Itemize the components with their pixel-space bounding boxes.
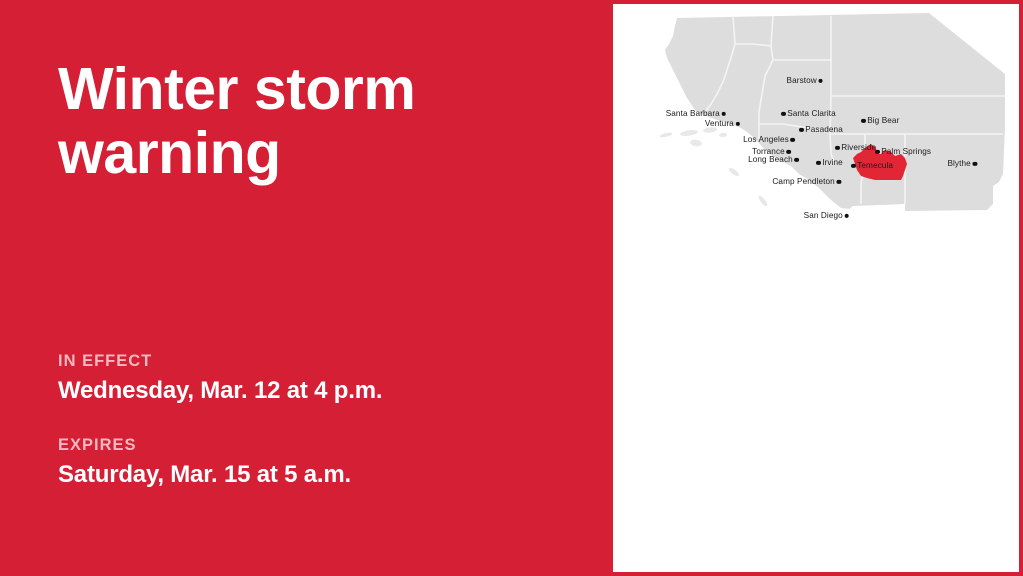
city-label: Irvine xyxy=(822,159,843,167)
city-label: Santa Barbara xyxy=(666,110,720,118)
map-city-marker: Big Bear xyxy=(861,117,899,125)
region-map: BarstowSanta BarbaraSanta ClaritaVentura… xyxy=(613,4,1019,572)
city-label: Big Bear xyxy=(867,117,899,125)
city-dot-icon xyxy=(836,180,841,185)
map-city-marker: Los Angeles xyxy=(743,136,795,144)
weather-alert-card: Winter storm warning IN EFFECT Wednesday… xyxy=(0,0,1023,576)
expires-label: EXPIRES xyxy=(58,436,573,456)
city-dot-icon xyxy=(861,119,866,124)
map-city-marker: Santa Clarita xyxy=(781,110,836,118)
city-dot-icon xyxy=(790,138,795,143)
city-label: Temecula xyxy=(857,162,893,170)
expires-value: Saturday, Mar. 15 at 5 a.m. xyxy=(58,460,573,490)
city-dot-icon xyxy=(875,150,880,155)
map-city-marker: Pasadena xyxy=(799,126,843,134)
expires-block: EXPIRES Saturday, Mar. 15 at 5 a.m. xyxy=(58,436,573,490)
city-label-layer: BarstowSanta BarbaraSanta ClaritaVentura… xyxy=(613,4,1019,572)
map-city-marker: Riverside xyxy=(835,144,876,152)
map-city-marker: Santa Barbara xyxy=(666,110,726,118)
alert-text-panel: Winter storm warning IN EFFECT Wednesday… xyxy=(0,0,613,576)
city-dot-icon xyxy=(799,128,804,133)
city-dot-icon xyxy=(835,146,840,151)
city-label: Ventura xyxy=(705,120,734,128)
city-dot-icon xyxy=(794,158,799,163)
in-effect-label: IN EFFECT xyxy=(58,352,573,372)
alert-timing-group: IN EFFECT Wednesday, Mar. 12 at 4 p.m. E… xyxy=(58,352,573,536)
city-label: Pasadena xyxy=(805,126,843,134)
city-label: Blythe xyxy=(947,160,970,168)
city-label: San Diego xyxy=(804,212,843,220)
city-dot-icon xyxy=(721,112,726,117)
map-city-marker: Camp Pendleton xyxy=(772,178,841,186)
map-city-marker: Palm Springs xyxy=(875,148,931,156)
in-effect-value: Wednesday, Mar. 12 at 4 p.m. xyxy=(58,376,573,406)
city-dot-icon xyxy=(816,161,821,166)
map-city-marker: Irvine xyxy=(816,159,843,167)
city-label: Barstow xyxy=(787,77,817,85)
city-label: Palm Springs xyxy=(881,148,931,156)
in-effect-block: IN EFFECT Wednesday, Mar. 12 at 4 p.m. xyxy=(58,352,573,406)
city-dot-icon xyxy=(818,79,823,84)
map-city-marker: Long Beach xyxy=(748,156,799,164)
city-dot-icon xyxy=(735,122,740,127)
city-label: Camp Pendleton xyxy=(772,178,834,186)
city-dot-icon xyxy=(972,162,977,167)
city-label: Riverside xyxy=(841,144,876,152)
city-dot-icon xyxy=(786,150,791,155)
city-label: Los Angeles xyxy=(743,136,789,144)
map-city-marker: Ventura xyxy=(705,120,740,128)
city-label: Santa Clarita xyxy=(787,110,836,118)
map-panel: BarstowSanta BarbaraSanta ClaritaVentura… xyxy=(613,0,1023,576)
city-label: Long Beach xyxy=(748,156,793,164)
city-dot-icon xyxy=(781,112,786,117)
city-dot-icon xyxy=(844,214,849,219)
map-city-marker: Barstow xyxy=(787,77,823,85)
map-city-marker: San Diego xyxy=(804,212,849,220)
map-city-marker: Blythe xyxy=(947,160,977,168)
map-city-marker: Temecula xyxy=(851,162,893,170)
page-title: Winter storm warning xyxy=(58,58,528,185)
city-dot-icon xyxy=(851,164,856,169)
